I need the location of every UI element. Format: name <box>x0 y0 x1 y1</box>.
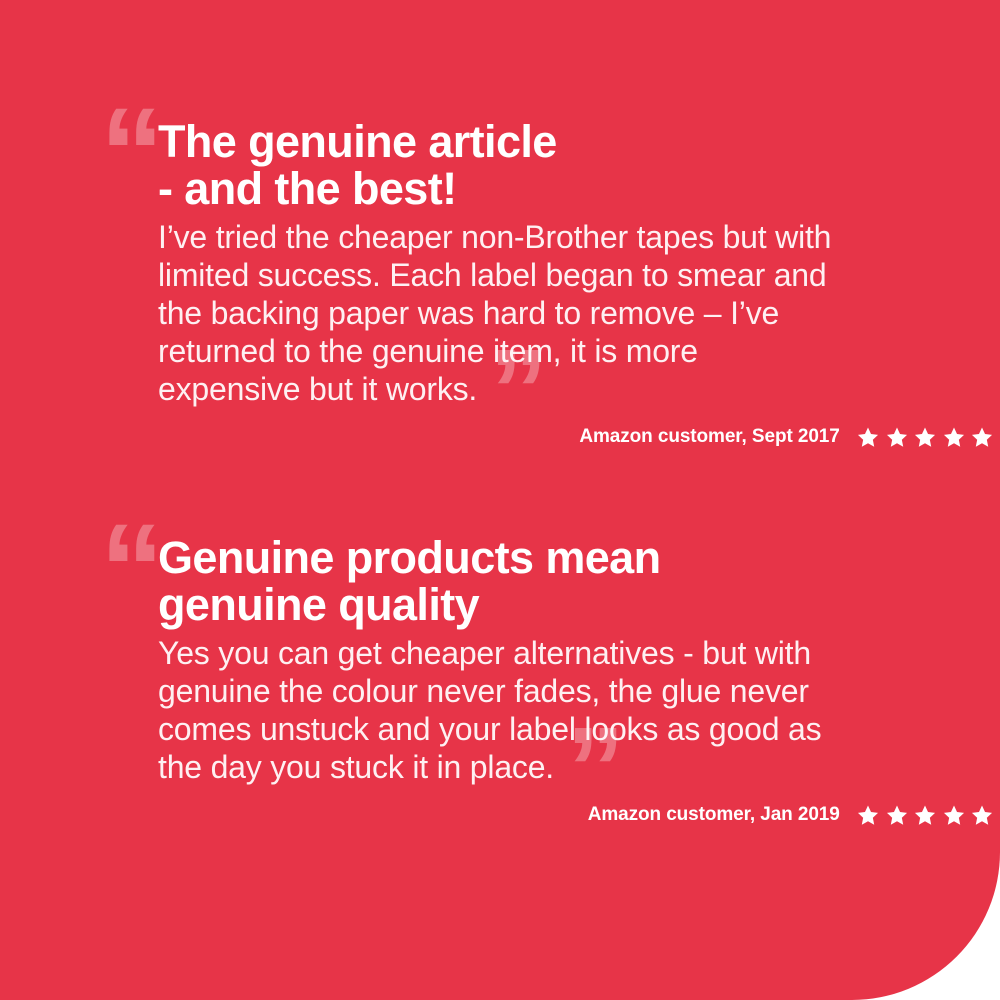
open-quote-icon: “ <box>100 124 152 182</box>
star-icon <box>886 427 908 448</box>
attribution-text: Amazon customer, Jan 2019 <box>588 804 840 826</box>
review-content: Genuine products mean genuine quality Ye… <box>158 534 878 826</box>
star-rating <box>857 427 993 448</box>
review-body-text: Yes you can get cheaper alternatives - b… <box>158 635 821 785</box>
review-item: “ Genuine products mean genuine quality … <box>0 534 1000 826</box>
testimonial-card: “ The genuine article - and the best! I’… <box>0 0 1000 1000</box>
star-icon <box>943 805 965 826</box>
review-body: Yes you can get cheaper alternatives - b… <box>158 634 848 786</box>
review-item: “ The genuine article - and the best! I’… <box>0 118 1000 448</box>
star-icon <box>914 805 936 826</box>
review-headline: The genuine article - and the best! <box>158 118 878 212</box>
open-quote-icon: “ <box>100 540 152 598</box>
close-quote-glyph: ” <box>489 332 546 450</box>
review-headline: Genuine products mean genuine quality <box>158 534 878 628</box>
star-icon <box>886 805 908 826</box>
star-icon <box>943 427 965 448</box>
close-quote-glyph: ” <box>566 710 623 828</box>
star-rating <box>857 805 993 826</box>
star-icon <box>971 427 993 448</box>
review-attribution: Amazon customer, Sept 2017 <box>158 426 993 448</box>
star-icon <box>857 805 879 826</box>
star-icon <box>914 427 936 448</box>
review-body: I’ve tried the cheaper non-Brother tapes… <box>158 218 848 408</box>
star-icon <box>971 805 993 826</box>
open-quote-glyph: “ <box>100 90 152 218</box>
star-icon <box>857 427 879 448</box>
attribution-text: Amazon customer, Sept 2017 <box>579 426 839 448</box>
open-quote-glyph: “ <box>100 506 152 634</box>
review-content: The genuine article - and the best! I’ve… <box>158 118 878 448</box>
